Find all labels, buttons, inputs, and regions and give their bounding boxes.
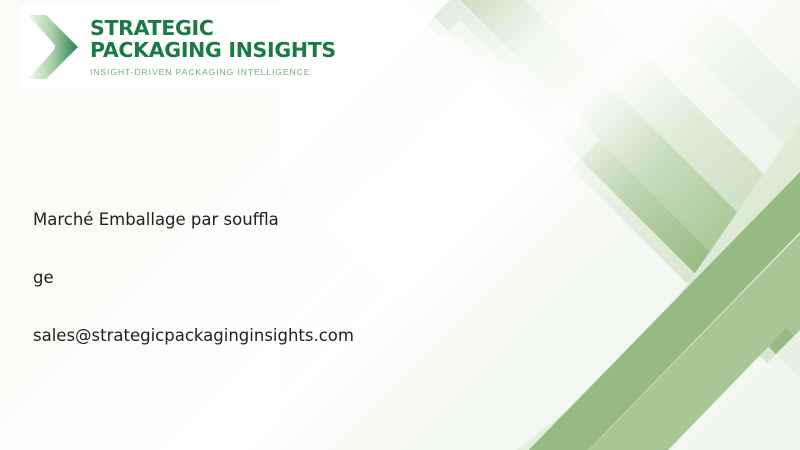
- brand-logo-text: STRATEGIC PACKAGING INSIGHTS INSIGHT-DRI…: [90, 17, 336, 77]
- brand-title-line2: PACKAGING INSIGHTS: [90, 39, 336, 61]
- report-title-line2: ge: [33, 268, 463, 288]
- report-title-line1: Marché Emballage par souffla: [33, 210, 463, 230]
- brand-title-line1: STRATEGIC: [90, 17, 336, 39]
- chevron-arrow-mark-icon: [24, 10, 82, 84]
- contact-email: sales@strategicpackaginginsights.com: [33, 326, 463, 346]
- brand-logo: STRATEGIC PACKAGING INSIGHTS INSIGHT-DRI…: [20, 5, 332, 88]
- brand-tagline: INSIGHT-DRIVEN PACKAGING INTELLIGENCE: [90, 67, 336, 77]
- slide-body-text: Marché Emballage par souffla ge sales@st…: [33, 210, 463, 346]
- slide-canvas: STRATEGIC PACKAGING INSIGHTS INSIGHT-DRI…: [0, 0, 800, 450]
